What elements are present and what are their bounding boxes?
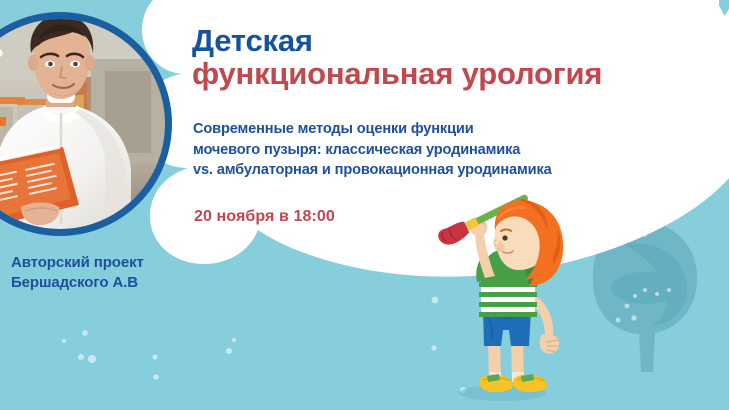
webinar-banner: Детская функциональная урология Современ… xyxy=(0,0,729,410)
page-title: Детская функциональная урология xyxy=(192,24,672,91)
title-line-1: Детская xyxy=(192,24,672,57)
author-credit: Авторский проект Бершадского А.В xyxy=(11,253,201,293)
event-date: 20 ноября в 18:00 xyxy=(194,208,335,226)
subtitle-line-3: vs. амбулаторная и провокационная уродин… xyxy=(193,160,688,181)
author-line-2: Бершадского А.В xyxy=(11,273,201,293)
subtitle-line-1: Современные методы оценки функции xyxy=(193,119,688,140)
title-line-2: функциональная урология xyxy=(192,57,672,90)
doctor-portrait xyxy=(0,12,172,236)
boy-with-paintbrush-illustration xyxy=(425,190,605,410)
author-line-1: Авторский проект xyxy=(11,253,201,273)
portrait-ring-border xyxy=(0,12,172,236)
subtitle-line-2: мочевого пузыря: классическая уродинамик… xyxy=(193,140,688,161)
subtitle: Современные методы оценки функции мочево… xyxy=(193,119,688,181)
